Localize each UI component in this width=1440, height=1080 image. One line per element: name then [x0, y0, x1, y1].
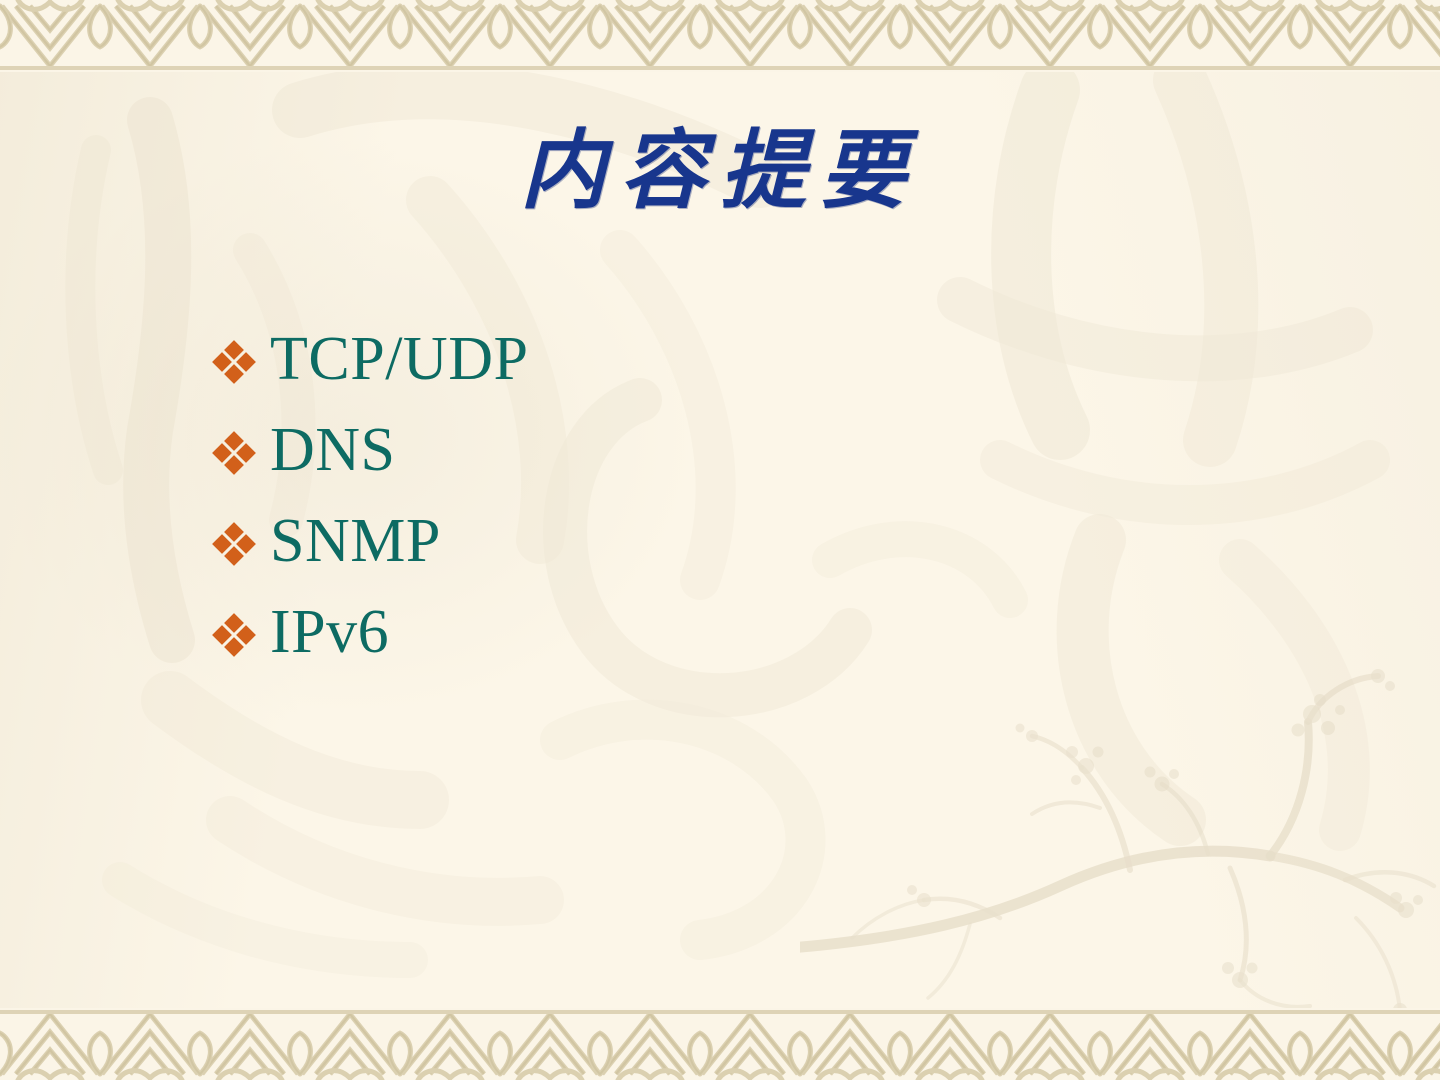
slide-title: 内容提要 [0, 126, 1440, 216]
list-item-label: IPv6 [270, 601, 389, 669]
diamond-cluster-bullet-icon [212, 613, 256, 657]
diamond-cluster-bullet-icon [212, 522, 256, 566]
list-item-label: TCP/UDP [270, 328, 528, 396]
top-decorative-border [0, 0, 1440, 72]
list-item[interactable]: IPv6 [212, 589, 1112, 680]
bullet-list: TCP/UDP DNS [212, 316, 1112, 680]
diamond-cluster-bullet-icon [212, 340, 256, 384]
diamond-cluster-bullet-icon [212, 431, 256, 475]
list-item[interactable]: SNMP [212, 498, 1112, 589]
presentation-slide: 内容提要 TCP/UDP [0, 0, 1440, 1080]
list-item-label: SNMP [270, 510, 441, 578]
list-item-label: DNS [270, 419, 396, 487]
list-item[interactable]: TCP/UDP [212, 316, 1112, 407]
bottom-decorative-border [0, 1008, 1440, 1080]
list-item[interactable]: DNS [212, 407, 1112, 498]
